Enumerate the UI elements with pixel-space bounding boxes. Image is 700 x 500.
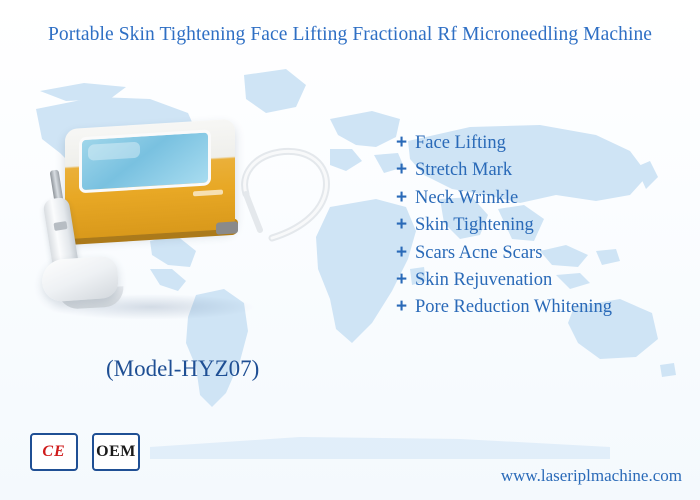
ce-badge: CE bbox=[30, 433, 78, 471]
feature-label: Scars Acne Scars bbox=[415, 243, 542, 264]
plus-icon: + bbox=[396, 160, 415, 179]
product-poster: Portable Skin Tightening Face Lifting Fr… bbox=[0, 0, 700, 500]
rf-console-body bbox=[65, 119, 235, 239]
certification-badges: CE OEM bbox=[30, 433, 140, 471]
list-item: + Scars Acne Scars bbox=[396, 243, 696, 270]
plus-icon: + bbox=[396, 243, 415, 262]
product-image bbox=[40, 118, 390, 348]
feature-label: Skin Rejuvenation bbox=[415, 270, 552, 291]
list-item: + Neck Wrinkle bbox=[396, 188, 696, 215]
list-item: + Stretch Mark bbox=[396, 160, 696, 187]
plus-icon: + bbox=[396, 188, 415, 207]
plus-icon: + bbox=[396, 133, 415, 152]
cable-connector bbox=[237, 229, 276, 247]
feature-list: + Face Lifting + Stretch Mark + Neck Wri… bbox=[396, 133, 696, 325]
list-item: + Pore Reduction Whitening bbox=[396, 297, 696, 324]
console-output-port bbox=[216, 221, 238, 234]
handpiece-grip bbox=[41, 255, 120, 302]
feature-label: Stretch Mark bbox=[415, 160, 512, 181]
plus-icon: + bbox=[396, 297, 415, 316]
feature-label: Neck Wrinkle bbox=[415, 188, 518, 209]
console-logo bbox=[193, 190, 223, 197]
page-title: Portable Skin Tightening Face Lifting Fr… bbox=[0, 24, 700, 46]
feature-label: Face Lifting bbox=[415, 133, 506, 154]
feature-label: Skin Tightening bbox=[415, 215, 534, 236]
plus-icon: + bbox=[396, 270, 415, 289]
list-item: + Skin Rejuvenation bbox=[396, 270, 696, 297]
website-url: www.laseriplmachine.com bbox=[501, 466, 682, 486]
plus-icon: + bbox=[396, 215, 415, 234]
list-item: + Skin Tightening bbox=[396, 215, 696, 242]
feature-label: Pore Reduction Whitening bbox=[415, 297, 612, 318]
oem-badge: OEM bbox=[92, 433, 140, 471]
model-label: (Model-HYZ07) bbox=[106, 356, 259, 382]
console-touchscreen bbox=[79, 129, 211, 193]
list-item: + Face Lifting bbox=[396, 133, 696, 160]
